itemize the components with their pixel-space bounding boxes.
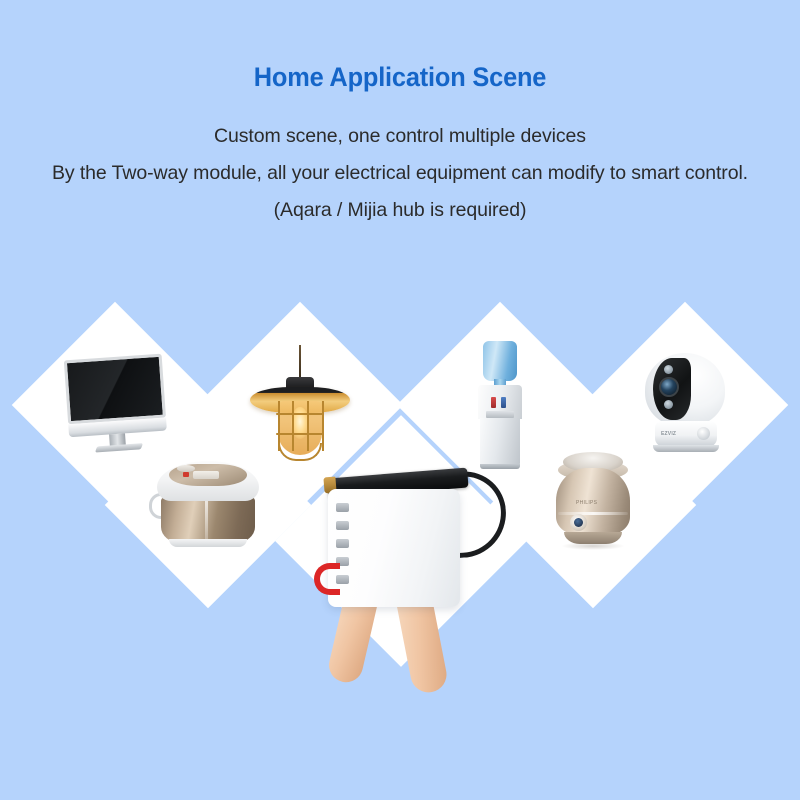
cooker-display [193, 471, 219, 479]
lamp-cage-ring [276, 413, 324, 415]
dispenser-hot-tap [491, 397, 496, 408]
tile-humidifier-inner: PHILIPS [520, 432, 666, 578]
lamp-cage-bar [322, 401, 324, 451]
camera-lens [659, 377, 679, 397]
camera-ir-led [664, 400, 673, 409]
module-red-wire-loop [314, 563, 340, 595]
lamp-cage-ring [276, 433, 324, 435]
dispenser-drip-tray [486, 411, 514, 418]
humidifier-brand-logo: PHILIPS [576, 500, 597, 506]
two-way-module-artwork [300, 455, 530, 695]
module-terminal-slot [336, 539, 349, 548]
humidifier-seam [558, 512, 628, 515]
cooker-base [169, 539, 247, 547]
dispenser-cold-tap [501, 397, 506, 408]
tile-rice-cooker [105, 402, 311, 608]
cooker-body [161, 495, 255, 543]
camera-side-dial [697, 427, 710, 440]
rice-cooker-icon [149, 459, 267, 551]
poster-canvas: Home Application Scene Custom scene, one… [0, 0, 800, 800]
water-dispenser-icon [474, 341, 526, 469]
cooker-knob [177, 465, 195, 472]
camera-ir-led [664, 365, 673, 374]
monitor-screen [64, 354, 166, 425]
cooker-indicator [183, 472, 189, 477]
cooker-seam [205, 497, 208, 541]
lamp-cord [299, 345, 301, 379]
tile-cooker-inner [135, 432, 281, 578]
dispenser-bottle [483, 341, 517, 381]
module-terminal-slot [336, 503, 349, 512]
module-terminal-slot [336, 521, 349, 530]
humidifier-power-indicator [574, 518, 583, 527]
humidifier-icon: PHILIPS [550, 452, 636, 558]
humidifier-shadow [562, 542, 624, 550]
